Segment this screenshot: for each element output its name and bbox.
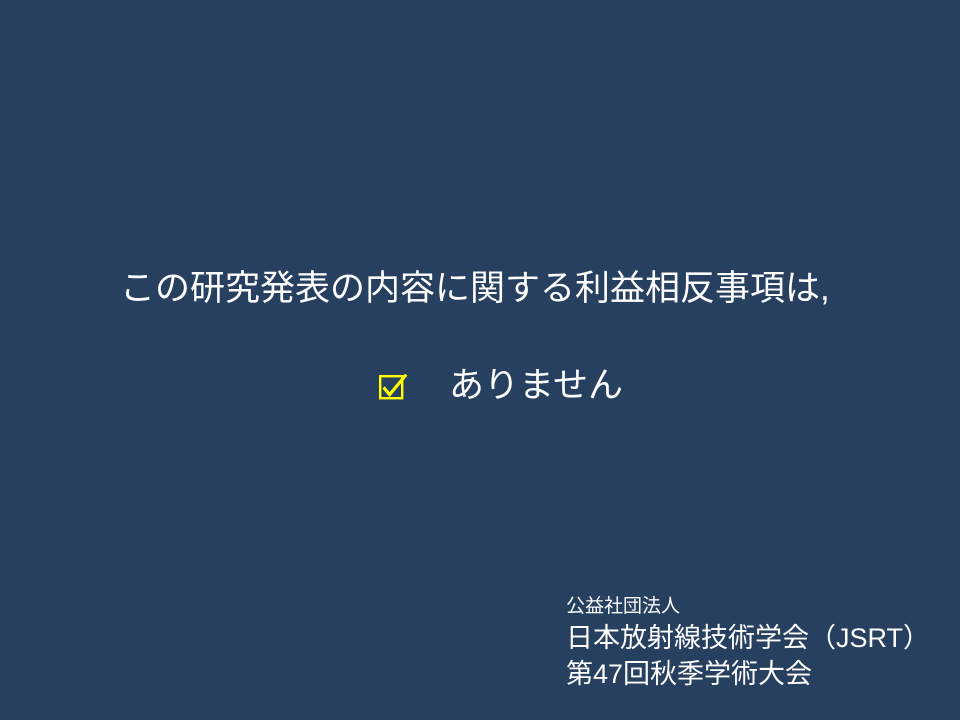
coi-answer-row[interactable]: ありません — [378, 368, 623, 403]
society-org-type: 公益社団法人 — [566, 594, 930, 621]
society-credit-block: 公益社団法人 日本放射線技術学会（JSRT） 第47回秋季学術大会 — [566, 594, 930, 693]
coi-statement-text: この研究発表の内容に関する利益相反事項は, — [120, 268, 920, 309]
checked-checkbox-icon[interactable] — [378, 372, 408, 402]
coi-answer-label: ありません — [449, 368, 623, 403]
society-meeting-name: 第47回秋季学術大会 — [566, 657, 930, 693]
coi-disclosure-slide: この研究発表の内容に関する利益相反事項は, ありません 公益社団法人 日本放射線… — [0, 0, 960, 720]
society-name: 日本放射線技術学会（JSRT） — [566, 621, 930, 657]
